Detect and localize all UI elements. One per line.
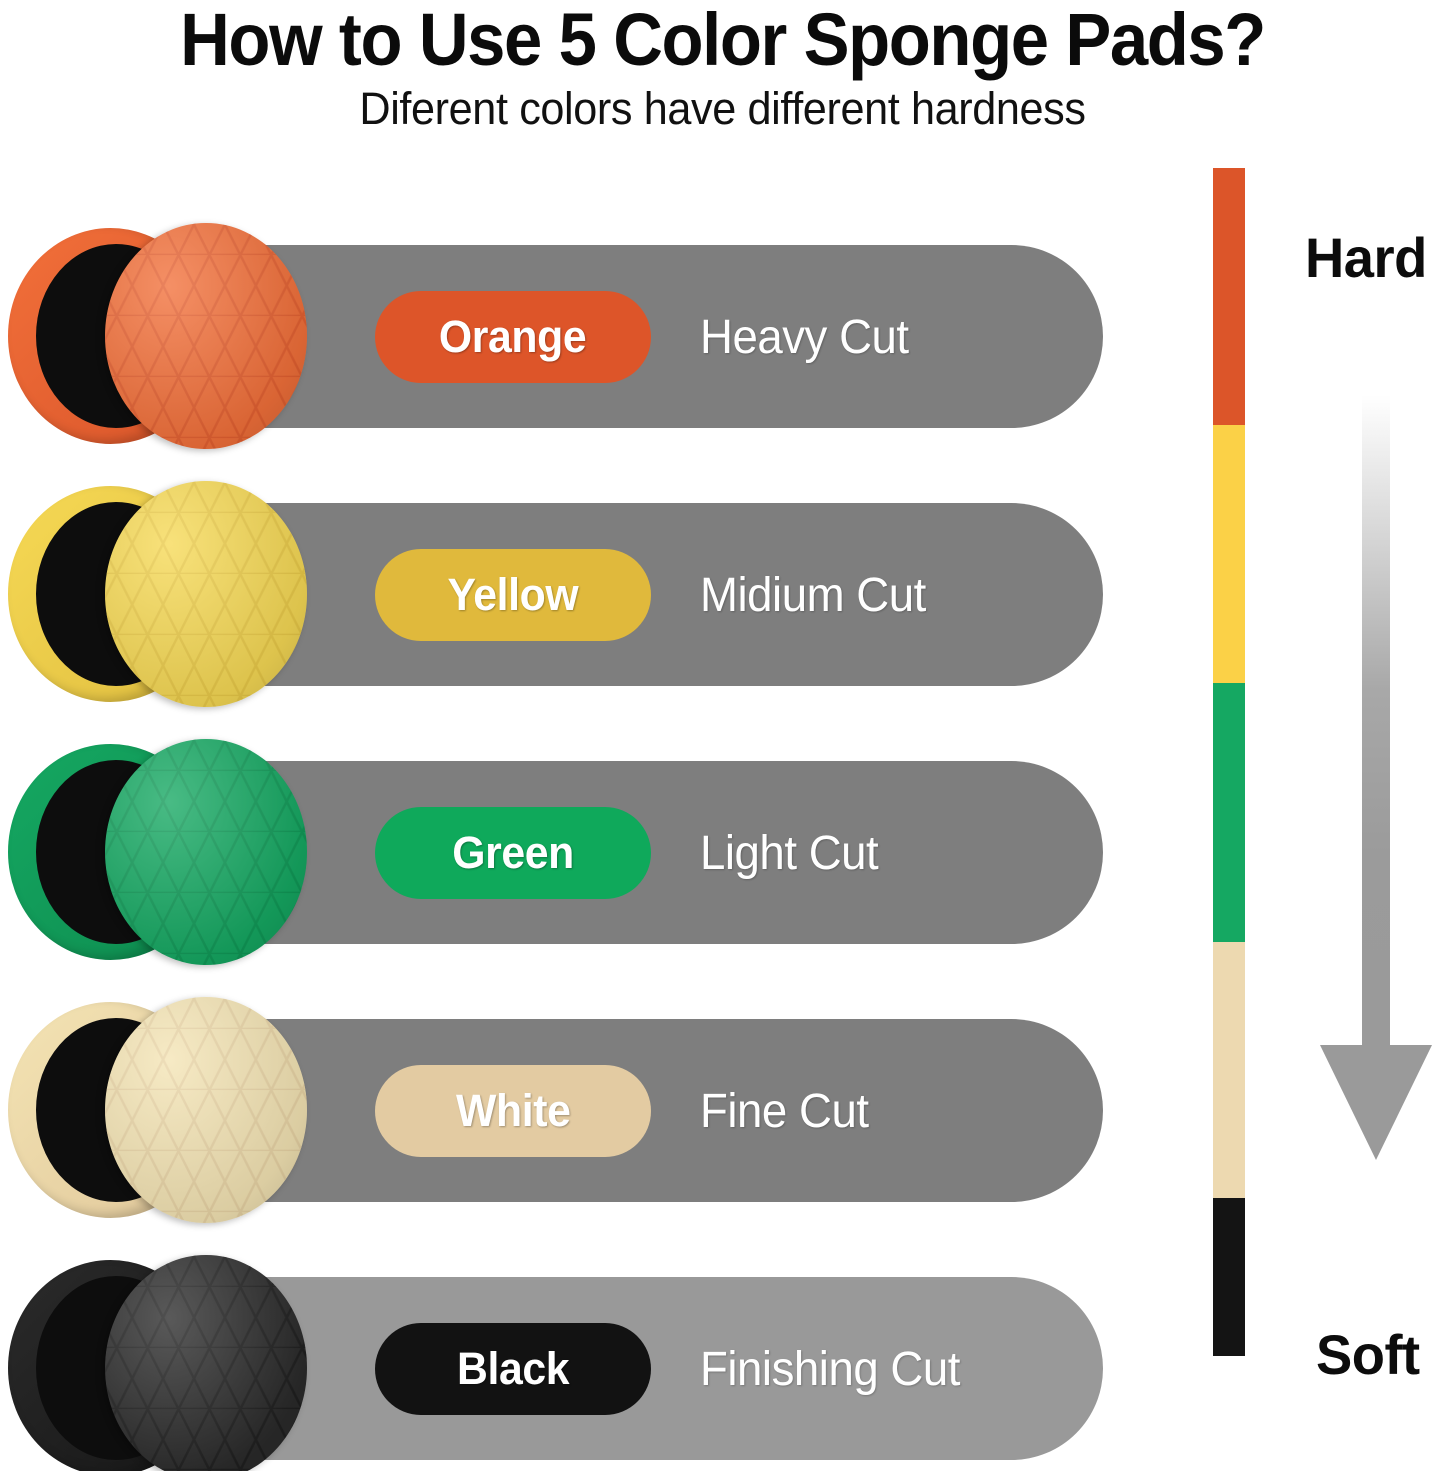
sponge-pad-illustration [0, 478, 330, 710]
sponge-pad-illustration [0, 736, 330, 968]
color-badge-label: White [456, 1085, 570, 1137]
pad-row: Yellow Midium Cut [0, 478, 1150, 710]
pad-shading [105, 481, 307, 707]
green-segment [1213, 683, 1245, 942]
pad-row: Green Light Cut [0, 736, 1150, 968]
hardness-down-arrow-icon [1320, 395, 1432, 1160]
header: How to Use 5 Color Sponge Pads? Diferent… [0, 0, 1445, 133]
black-segment [1213, 1198, 1245, 1356]
infographic-page: How to Use 5 Color Sponge Pads? Diferent… [0, 0, 1445, 1471]
cut-level-label: Heavy Cut [700, 291, 909, 383]
pad-row: White Fine Cut [0, 994, 1150, 1226]
hardness-scale-bar [1213, 168, 1245, 1356]
color-badge[interactable]: Orange [375, 291, 651, 383]
orange-segment [1213, 168, 1245, 425]
pad-shading [105, 739, 307, 965]
scale-label-soft: Soft [1316, 1322, 1420, 1387]
color-badge[interactable]: White [375, 1065, 651, 1157]
cut-level-label: Midium Cut [700, 549, 926, 641]
cut-level-label: Fine Cut [700, 1065, 869, 1157]
pad-front-disc [105, 481, 307, 707]
pad-shading [105, 997, 307, 1223]
pad-front-disc [105, 739, 307, 965]
page-title: How to Use 5 Color Sponge Pads? [51, 0, 1395, 77]
color-badge-label: Green [452, 827, 574, 879]
color-badge[interactable]: Green [375, 807, 651, 899]
cut-level-label: Finishing Cut [700, 1323, 960, 1415]
pad-shading [105, 223, 307, 449]
scale-label-hard: Hard [1305, 225, 1427, 290]
page-subtitle: Diferent colors have different hardness [29, 77, 1416, 132]
color-badge-label: Black [457, 1343, 569, 1395]
color-badge[interactable]: Black [375, 1323, 651, 1415]
pad-front-disc [105, 1255, 307, 1471]
color-badge-label: Orange [439, 311, 586, 363]
cream-segment [1213, 942, 1245, 1198]
sponge-pad-illustration [0, 1252, 330, 1471]
pad-shading [105, 1255, 307, 1471]
color-badge[interactable]: Yellow [375, 549, 651, 641]
cut-level-label: Light Cut [700, 807, 878, 899]
yellow-segment [1213, 425, 1245, 683]
color-badge-label: Yellow [448, 569, 579, 621]
pad-front-disc [105, 223, 307, 449]
pad-row: Orange Heavy Cut [0, 220, 1150, 452]
sponge-pad-illustration [0, 220, 330, 452]
pad-front-disc [105, 997, 307, 1223]
pad-row: Black Finishing Cut [0, 1252, 1150, 1471]
sponge-pad-illustration [0, 994, 330, 1226]
